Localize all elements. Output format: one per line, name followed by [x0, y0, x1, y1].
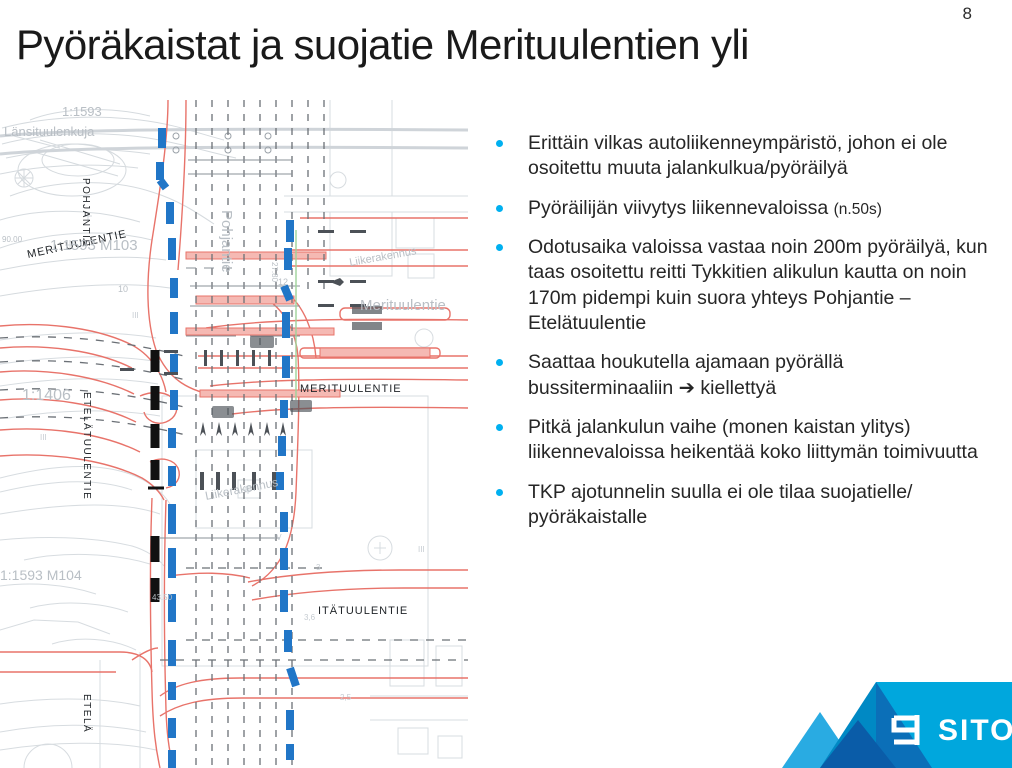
logo-triangle-light: [782, 712, 858, 768]
svg-text:III: III: [132, 311, 139, 320]
svg-text:10: 10: [118, 284, 128, 294]
svg-text:MERITUULENTIE: MERITUULENTIE: [300, 383, 402, 395]
list-item: Saattaa houkutella ajamaan pyörällä buss…: [492, 350, 992, 401]
bullet-marker-icon: [492, 350, 528, 366]
logo-triangle-cyan: [876, 682, 1012, 768]
svg-text:12: 12: [278, 277, 288, 287]
bullet-marker-icon: [492, 415, 528, 431]
logo-triangle-deep: [876, 682, 932, 768]
bullet-list: Erittäin vilkas autoliikenneympäristö, j…: [492, 131, 992, 544]
logo-triangle-dark: [820, 720, 896, 768]
bullet-marker-icon: [492, 235, 528, 251]
svg-text:1:1593: 1:1593: [62, 104, 102, 119]
logo-triangles: SITO: [742, 660, 1012, 768]
sito-logo: SITO: [742, 660, 1012, 768]
svg-text:1:1406: 1:1406: [22, 387, 71, 404]
map-svg: MERITUULENTIE POHJANTIE ETELÄTUULENTIE M…: [0, 100, 468, 768]
page-title: Pyöräkaistat ja suojatie Merituulentien …: [16, 22, 956, 67]
slide: 8 Pyöräkaistat ja suojatie Merituulentie…: [0, 0, 1012, 768]
list-item: Pyöräilijän viivytys liikennevaloissa (n…: [492, 196, 992, 221]
bullet-marker-icon: [492, 480, 528, 496]
logo-wordmark: SITO: [938, 714, 1012, 747]
s-monogram-icon: [894, 715, 917, 745]
svg-text:1:1593 M103: 1:1593 M103: [50, 237, 138, 254]
bullet-text: TKP ajotunnelin suulla ei ole tilaa suoj…: [528, 480, 992, 531]
list-item: Odotusaika valoissa vastaa noin 200m pyö…: [492, 235, 992, 336]
svg-text:ITÄTUULENTIE: ITÄTUULENTIE: [318, 605, 408, 617]
bullet-text: Pitkä jalankulun vaihe (monen kaistan yl…: [528, 415, 992, 466]
bullet-text: Odotusaika valoissa vastaa noin 200m pyö…: [528, 235, 992, 336]
svg-text:Pohjantie: Pohjantie: [218, 210, 235, 273]
svg-text:ETELÄ: ETELÄ: [81, 694, 93, 733]
svg-text:90.00: 90.00: [2, 235, 23, 244]
bullet-text: Saattaa houkutella ajamaan pyörällä buss…: [528, 350, 992, 401]
svg-text:Länsituulenkuja: Länsituulenkuja: [4, 124, 95, 139]
svg-text:3: 3: [316, 563, 321, 572]
page-number: 8: [963, 4, 972, 24]
logo-triangle-mid: [820, 682, 932, 768]
svg-text:1:1593 M104: 1:1593 M104: [0, 567, 82, 583]
svg-text:IV: IV: [274, 533, 282, 542]
svg-text:III: III: [40, 433, 47, 442]
list-item: TKP ajotunnelin suulla ei ole tilaa suoj…: [492, 480, 992, 531]
list-item: Erittäin vilkas autoliikenneympäristö, j…: [492, 131, 992, 182]
svg-text:III: III: [418, 545, 425, 554]
svg-text:ETELÄTUULENTIE: ETELÄTUULENTIE: [81, 392, 93, 500]
svg-text:Merituulentie: Merituulentie: [360, 297, 446, 314]
bullet-text: Pyöräilijän viivytys liikennevaloissa (n…: [528, 196, 992, 221]
bullet-marker-icon: [492, 131, 528, 147]
map-image: MERITUULENTIE POHJANTIE ETELÄTUULENTIE M…: [0, 100, 468, 768]
bullet-text: Erittäin vilkas autoliikenneympäristö, j…: [528, 131, 992, 182]
list-item: Pitkä jalankulun vaihe (monen kaistan yl…: [492, 415, 992, 466]
svg-text:43.50: 43.50: [152, 593, 173, 602]
svg-text:3,6: 3,6: [304, 613, 316, 622]
bullet-marker-icon: [492, 196, 528, 212]
svg-text:2,5: 2,5: [340, 693, 352, 702]
